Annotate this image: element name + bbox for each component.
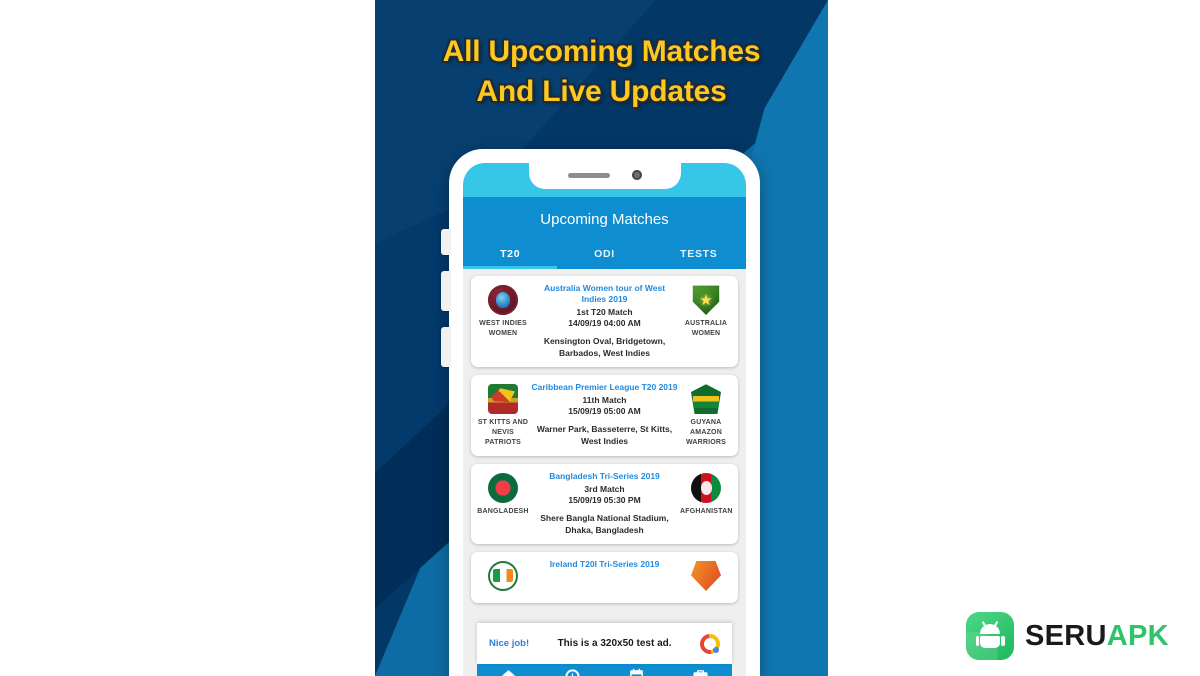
match-details: Bangladesh Tri-Series 2019 3rd Match 15/… [529, 471, 680, 536]
team-right: GUYANA AMAZON WARRIORS [680, 382, 732, 448]
st-kitts-nevis-patriots-logo-icon [488, 384, 518, 414]
phone-mockup: Upcoming Matches T20 ODI TESTS WEST INDI… [449, 149, 760, 676]
match-venue: Warner Park, Basseterre, St Kitts, West … [531, 424, 678, 447]
match-details: Ireland T20I Tri-Series 2019 [529, 559, 680, 578]
scotland-logo-icon [691, 561, 721, 591]
match-card[interactable]: BANGLADESH Bangladesh Tri-Series 2019 3r… [471, 464, 738, 544]
watermark-name-dark: SERU [1025, 620, 1107, 652]
phone-screen: Upcoming Matches T20 ODI TESTS WEST INDI… [463, 163, 746, 676]
match-number: 1st T20 Match [531, 307, 678, 317]
team-left [477, 559, 529, 595]
match-number: 11th Match [531, 395, 678, 405]
tab-t20[interactable]: T20 [463, 244, 557, 269]
team-right: AUSTRALIA WOMEN [680, 283, 732, 339]
front-camera-icon [632, 170, 642, 180]
headline-line-2: And Live Updates [375, 72, 828, 112]
team-left: ST KITTS AND NEVIS PATRIOTS [477, 382, 529, 448]
robot-arm-left [976, 636, 980, 646]
watermark-logo: SERUAPK [966, 612, 1169, 660]
series-name: Caribbean Premier League T20 2019 [531, 382, 678, 393]
australia-women-logo-icon [691, 285, 721, 315]
promo-headline: All Upcoming Matches And Live Updates [375, 32, 828, 112]
match-venue: Kensington Oval, Bridgetown, Barbados, W… [531, 336, 678, 359]
match-details: Caribbean Premier League T20 2019 11th M… [529, 382, 680, 447]
status-bar [463, 163, 746, 197]
series-name: Australia Women tour of West Indies 2019 [531, 283, 678, 305]
screenshot-stage: All Upcoming Matches And Live Updates Up… [0, 0, 1200, 676]
guyana-amazon-warriors-logo-icon [691, 384, 721, 414]
ad-banner[interactable]: Nice job! This is a 320x50 test ad. [477, 623, 732, 664]
phone-notch [529, 163, 681, 189]
briefcase-icon[interactable] [692, 668, 709, 676]
match-datetime: 15/09/19 05:00 AM [531, 406, 678, 416]
robot-head [980, 624, 1000, 634]
match-datetime: 15/09/19 05:30 PM [531, 495, 678, 505]
match-number: 3rd Match [531, 484, 678, 494]
watermark-text: SERUAPK [1025, 620, 1169, 653]
match-card[interactable]: Ireland T20I Tri-Series 2019 [471, 552, 738, 603]
team-left: WEST INDIES WOMEN [477, 283, 529, 339]
ireland-logo-icon [488, 561, 518, 591]
team-left-name: BANGLADESH [477, 507, 529, 517]
match-list[interactable]: WEST INDIES WOMEN Australia Women tour o… [463, 269, 746, 676]
watermark-name-accent: APK [1107, 620, 1169, 652]
match-venue: Shere Bangla National Stadium, Dhaka, Ba… [531, 513, 678, 536]
phone-volume-up-button[interactable] [441, 271, 451, 311]
ad-badge: Nice job! [489, 638, 529, 649]
phone-silent-switch[interactable] [441, 229, 451, 255]
admob-icon [700, 634, 720, 654]
tab-odi[interactable]: ODI [557, 244, 651, 269]
afghanistan-logo-icon [691, 473, 721, 503]
admob-dot [713, 647, 719, 653]
team-right-name: GUYANA AMAZON WARRIORS [680, 418, 732, 448]
team-right-name: AFGHANISTAN [680, 507, 732, 517]
team-left: BANGLADESH [477, 471, 529, 517]
match-details: Australia Women tour of West Indies 2019… [529, 283, 680, 359]
home-icon[interactable] [500, 668, 517, 676]
phone-volume-down-button[interactable] [441, 327, 451, 367]
bottom-navigation-bar [477, 664, 732, 676]
team-left-name: WEST INDIES WOMEN [477, 319, 529, 339]
team-right [680, 559, 732, 595]
headline-line-1: All Upcoming Matches [443, 35, 761, 68]
app-bar: Upcoming Matches T20 ODI TESTS [463, 197, 746, 269]
team-left-name: ST KITTS AND NEVIS PATRIOTS [477, 418, 529, 448]
robot-arm-right [1001, 636, 1005, 646]
series-name: Bangladesh Tri-Series 2019 [531, 471, 678, 482]
team-right: AFGHANISTAN [680, 471, 732, 517]
bangladesh-logo-icon [488, 473, 518, 503]
page-title: Upcoming Matches [463, 211, 746, 244]
tab-bar: T20 ODI TESTS [463, 244, 746, 269]
match-card[interactable]: WEST INDIES WOMEN Australia Women tour o… [471, 276, 738, 367]
west-indies-women-logo-icon [488, 285, 518, 315]
robot-body [980, 636, 1000, 648]
tab-tests[interactable]: TESTS [652, 244, 746, 269]
android-robot-shape [976, 624, 1004, 648]
team-right-name: AUSTRALIA WOMEN [680, 319, 732, 339]
admob-ring [696, 629, 724, 657]
ad-text: This is a 320x50 test ad. [539, 638, 690, 649]
match-card[interactable]: ST KITTS AND NEVIS PATRIOTS Caribbean Pr… [471, 375, 738, 456]
earpiece-speaker-icon [568, 173, 610, 178]
match-datetime: 14/09/19 04:00 AM [531, 318, 678, 328]
calendar-icon[interactable] [628, 668, 645, 676]
android-robot-icon [966, 612, 1014, 660]
series-name: Ireland T20I Tri-Series 2019 [531, 559, 678, 570]
clock-icon[interactable] [564, 668, 581, 676]
